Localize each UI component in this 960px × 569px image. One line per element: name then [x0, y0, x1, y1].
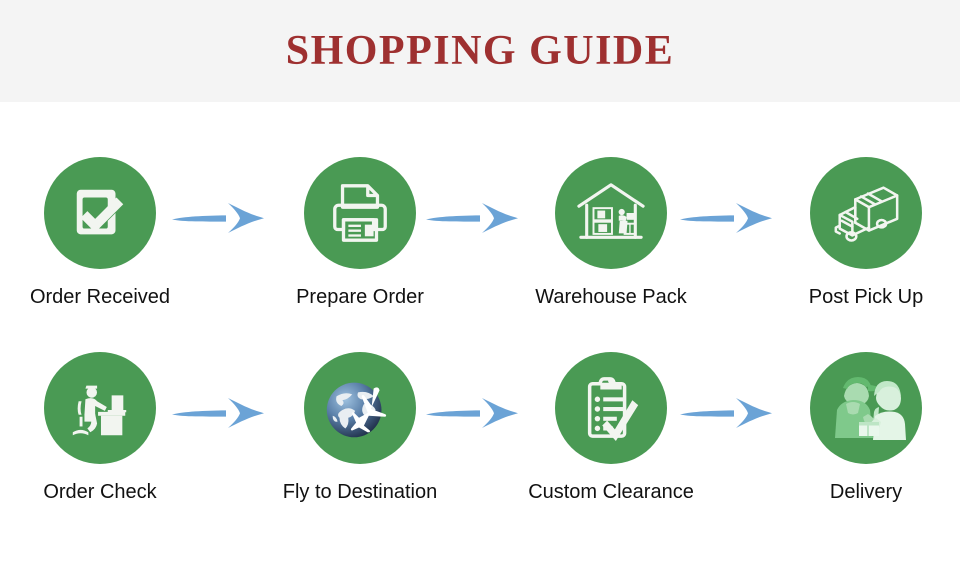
step-post-pick-up[interactable]: Post Pick Up: [766, 157, 960, 357]
step-order-received[interactable]: Order Received: [0, 157, 200, 357]
arrow-right-icon: [424, 201, 520, 235]
flow-arrow: [170, 396, 266, 430]
flow-arrow: [424, 201, 520, 235]
flow-arrow: [170, 201, 266, 235]
step-label: Warehouse Pack: [511, 286, 711, 308]
shopping-guide-page: SHOPPING GUIDE Order Received: [0, 0, 960, 569]
step-icon-circle: [44, 157, 156, 269]
arrow-right-icon: [424, 396, 520, 430]
flow-arrow: [424, 396, 520, 430]
step-label: Order Received: [0, 286, 200, 308]
step-icon-circle: [304, 352, 416, 464]
arrow-right-icon: [678, 396, 774, 430]
step-label: Delivery: [766, 481, 960, 503]
flow-arrow: [678, 201, 774, 235]
flow-row-2: Order Check: [0, 352, 960, 552]
step-fly-to-destination[interactable]: Fly to Destination: [260, 352, 460, 552]
step-prepare-order[interactable]: Prepare Order: [260, 157, 460, 357]
clipboard-checklist-icon: [578, 375, 644, 441]
step-label: Custom Clearance: [511, 481, 711, 503]
step-label: Order Check: [0, 481, 200, 503]
step-icon-circle: [810, 352, 922, 464]
delivery-truck-icon: [829, 176, 903, 250]
step-icon-circle: [555, 157, 667, 269]
flow-arrow: [678, 396, 774, 430]
step-order-check[interactable]: Order Check: [0, 352, 200, 552]
page-header: SHOPPING GUIDE: [0, 0, 960, 102]
step-icon-circle: [810, 157, 922, 269]
flow-row-1: Order Received: [0, 157, 960, 357]
checkbox-check-icon: [69, 182, 131, 244]
step-warehouse-pack[interactable]: Warehouse Pack: [511, 157, 711, 357]
step-delivery[interactable]: Delivery: [766, 352, 960, 552]
step-custom-clearance[interactable]: Custom Clearance: [511, 352, 711, 552]
arrow-right-icon: [678, 201, 774, 235]
step-icon-circle: [44, 352, 156, 464]
step-icon-circle: [555, 352, 667, 464]
step-icon-circle: [304, 157, 416, 269]
step-label: Fly to Destination: [260, 481, 460, 503]
warehouse-icon: [576, 178, 646, 248]
step-label: Post Pick Up: [766, 286, 960, 308]
printer-icon: [327, 180, 393, 246]
globe-airplane-icon: [319, 367, 401, 449]
courier-handover-icon: [824, 366, 908, 450]
process-flow: Order Received: [0, 102, 960, 569]
desk-worker-icon: [66, 374, 134, 442]
page-title: SHOPPING GUIDE: [286, 30, 675, 72]
arrow-right-icon: [170, 201, 266, 235]
arrow-right-icon: [170, 396, 266, 430]
step-label: Prepare Order: [260, 286, 460, 308]
